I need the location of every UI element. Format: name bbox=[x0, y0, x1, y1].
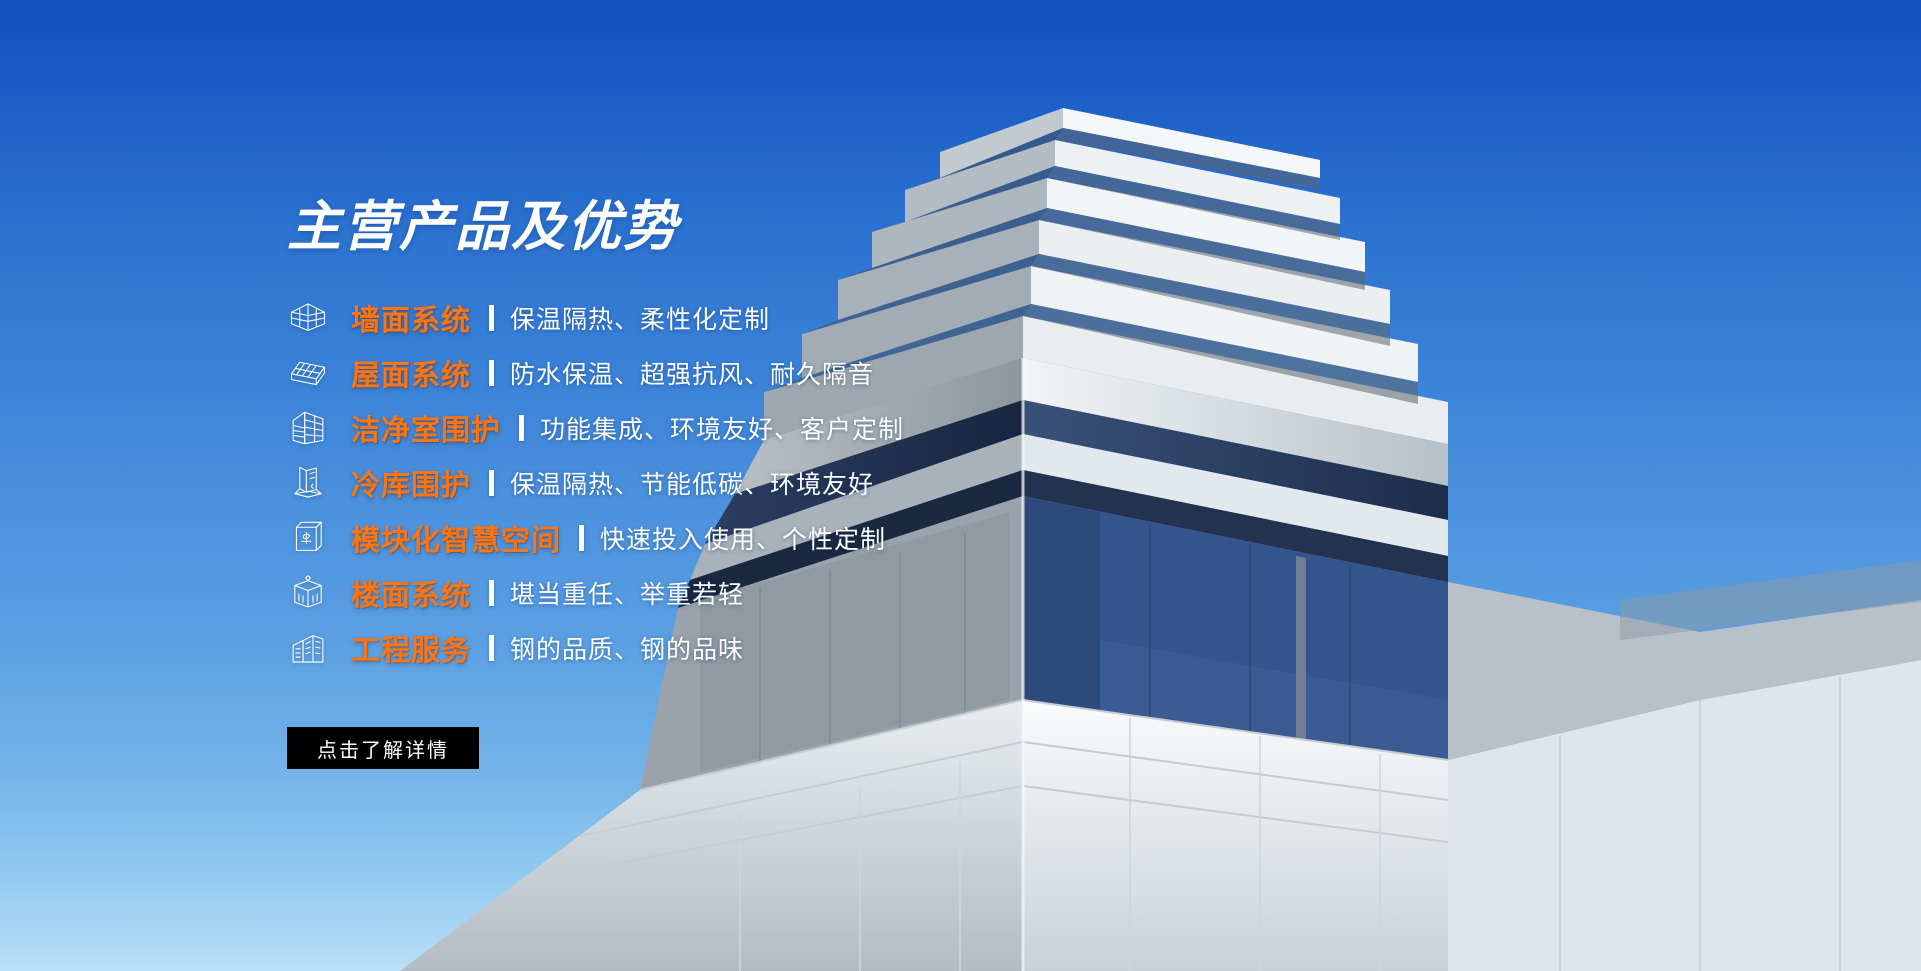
separator-bar bbox=[489, 580, 494, 606]
cleanroom-icon bbox=[287, 408, 329, 448]
separator-bar bbox=[489, 470, 494, 496]
learn-more-button[interactable]: 点击了解详情 bbox=[287, 727, 479, 769]
separator-bar bbox=[519, 415, 524, 441]
roof-panel-icon bbox=[287, 353, 329, 393]
product-desc: 保温隔热、柔性化定制 bbox=[510, 300, 770, 336]
product-row-wall-system[interactable]: 墙面系统 保温隔热、柔性化定制 bbox=[287, 290, 1107, 345]
separator-bar bbox=[489, 305, 494, 331]
product-name: 洁净室围护 bbox=[351, 407, 501, 449]
separator-bar bbox=[489, 635, 494, 661]
modular-space-icon bbox=[287, 518, 329, 558]
cold-storage-icon bbox=[287, 463, 329, 503]
product-name: 冷库围护 bbox=[351, 462, 471, 504]
product-row-cleanroom[interactable]: 洁净室围护 功能集成、环境友好、客户定制 bbox=[287, 400, 1107, 455]
product-row-cold-storage[interactable]: 冷库围护 保温隔热、节能低碳、环境友好 bbox=[287, 455, 1107, 510]
floor-deck-icon bbox=[287, 573, 329, 613]
product-desc: 保温隔热、节能低碳、环境友好 bbox=[510, 465, 874, 501]
separator-bar bbox=[489, 360, 494, 386]
banner-content: 主营产品及优势 墙面系统 保温隔热、柔性化定制 bbox=[287, 200, 1107, 769]
product-desc: 防水保温、超强抗风、耐久隔音 bbox=[510, 355, 874, 391]
product-desc: 堪当重任、举重若轻 bbox=[510, 575, 744, 611]
product-row-roof-system[interactable]: 屋面系统 防水保温、超强抗风、耐久隔音 bbox=[287, 345, 1107, 400]
product-name: 工程服务 bbox=[351, 627, 471, 669]
wall-panel-icon bbox=[287, 298, 329, 338]
hero-banner: 主营产品及优势 墙面系统 保温隔热、柔性化定制 bbox=[0, 0, 1921, 971]
product-row-floor-system[interactable]: 楼面系统 堪当重任、举重若轻 bbox=[287, 565, 1107, 620]
product-row-modular-space[interactable]: 模块化智慧空间 快速投入使用、个性定制 bbox=[287, 510, 1107, 565]
product-name: 墙面系统 bbox=[351, 297, 471, 339]
product-desc: 快速投入使用、个性定制 bbox=[600, 520, 886, 556]
product-name: 屋面系统 bbox=[351, 352, 471, 394]
product-name: 模块化智慧空间 bbox=[351, 517, 561, 559]
product-row-engineering-service[interactable]: 工程服务 钢的品质、钢的品味 bbox=[287, 620, 1107, 675]
page-title: 主营产品及优势 bbox=[287, 200, 1107, 254]
separator-bar bbox=[579, 525, 584, 551]
product-name: 楼面系统 bbox=[351, 572, 471, 614]
product-desc: 功能集成、环境友好、客户定制 bbox=[540, 410, 904, 446]
engineering-service-icon bbox=[287, 628, 329, 668]
product-desc: 钢的品质、钢的品味 bbox=[510, 630, 744, 666]
